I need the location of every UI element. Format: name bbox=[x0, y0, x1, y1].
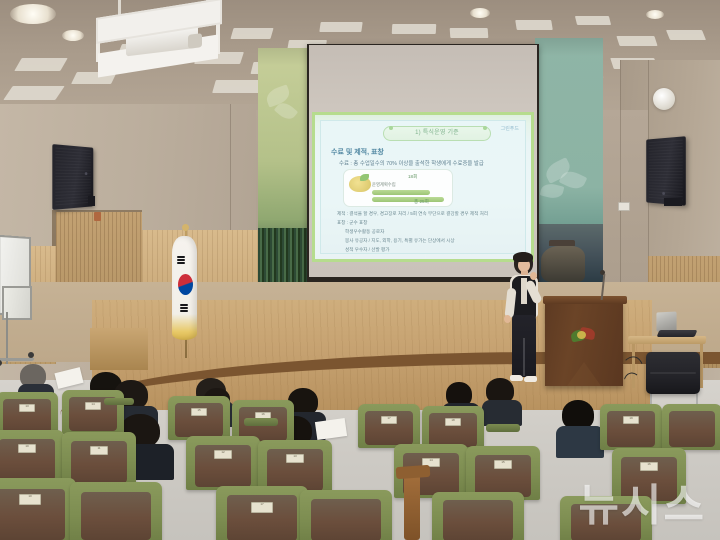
seat: 12 bbox=[186, 436, 260, 490]
ceiling-dome-light bbox=[653, 88, 675, 110]
slide-logo: 그린푸드 bbox=[501, 125, 519, 132]
newsis-watermark: 뉴시스 bbox=[579, 484, 706, 528]
seat bbox=[300, 490, 392, 540]
slide-bullet-1: 수료 및 제적, 표창 bbox=[331, 147, 384, 157]
seat: 19 bbox=[600, 404, 662, 450]
slide-footnote-5: 성적 우수자 / 선발 평가 bbox=[345, 247, 389, 253]
presenter bbox=[500, 252, 546, 388]
banner-bamboo bbox=[258, 48, 310, 300]
projector-lens bbox=[188, 33, 202, 49]
podium-emblem bbox=[571, 326, 597, 343]
presenter-right-hand bbox=[530, 272, 537, 280]
microphone-head bbox=[600, 270, 605, 275]
stage-step bbox=[90, 328, 148, 370]
audience-person-8 bbox=[486, 378, 518, 418]
seat: 17 bbox=[358, 404, 420, 448]
podium-top-surface bbox=[543, 296, 627, 304]
slide-stat-card: 운영계획수립 18회 총 25회 bbox=[343, 169, 453, 207]
laptop-keyboard[interactable] bbox=[657, 330, 698, 337]
seat bbox=[662, 404, 720, 450]
wall-alarm-box bbox=[94, 212, 101, 221]
slide-title: 1) 특식운영 기준 bbox=[383, 126, 491, 141]
seat: 11 bbox=[62, 432, 136, 486]
presenter-left-hand bbox=[504, 315, 511, 323]
photo-scene: 1) 특식운영 기준 그린푸드 수료 및 제적, 표창 수료 : 총 수업일수의… bbox=[0, 0, 720, 540]
flag-finial bbox=[182, 224, 189, 231]
korean-flag-taegukgi bbox=[172, 236, 197, 340]
seat bbox=[70, 482, 162, 540]
seat: 14 bbox=[62, 390, 124, 434]
seat-armrest bbox=[104, 398, 134, 405]
taeguk-circle bbox=[178, 274, 193, 295]
operator-table bbox=[628, 336, 707, 344]
presenter-hair bbox=[513, 252, 533, 262]
slide-footnote-2: 표창 : 군수 표창 bbox=[337, 220, 367, 226]
seat: 17 bbox=[216, 486, 308, 540]
wooden-podium bbox=[545, 300, 623, 386]
audience-person-9 bbox=[562, 400, 598, 448]
slide-card-value-top: 18회 bbox=[408, 174, 417, 180]
whiteboard-stand bbox=[6, 312, 8, 364]
presenter-right-shoe bbox=[524, 376, 537, 382]
seat bbox=[432, 492, 524, 540]
slide-footnote-1: 제적 : 결석을 할 경우, 경고장로 처리 / 5회 연속 무단으로 결강할 … bbox=[337, 211, 488, 217]
wooden-aisle-chair-back bbox=[404, 470, 420, 540]
right-wall-speaker bbox=[646, 136, 686, 206]
black-bag bbox=[646, 352, 700, 394]
wall-switch bbox=[618, 202, 630, 211]
right-speaker-bracket bbox=[664, 198, 682, 206]
seat: 10 bbox=[0, 430, 64, 484]
slide-card-value-bottom: 총 25회 bbox=[414, 199, 429, 205]
projector-safety-cage bbox=[96, 8, 222, 66]
seat: 10 bbox=[0, 478, 76, 540]
table-leg-right bbox=[700, 344, 703, 388]
slide-footnote-4: 봉사 유공자 / 지도, 외학, 용기, 특별 유가는 단상에서 시상 bbox=[345, 238, 455, 244]
projected-slide: 1) 특식운영 기준 그린푸드 수료 및 제적, 표창 수료 : 총 수업일수의… bbox=[312, 112, 534, 262]
seat-armrest bbox=[486, 424, 520, 432]
slide-bullet-2: 수료 : 총 수업일수의 70% 이상을 출석한 학생에게 수료증을 발급 bbox=[339, 159, 484, 167]
wooden-aisle-chair-seat bbox=[396, 465, 431, 479]
seat-armrest bbox=[244, 418, 278, 426]
slide-footnote-3: 학생우수활동 공로자 bbox=[345, 229, 384, 235]
seat: 15 bbox=[168, 396, 230, 440]
whiteboard-wheel-right bbox=[28, 352, 34, 358]
slide-card-label: 운영계획수립 bbox=[372, 182, 396, 188]
left-speaker-bracket bbox=[88, 196, 95, 206]
whiteboard-base bbox=[0, 358, 35, 361]
